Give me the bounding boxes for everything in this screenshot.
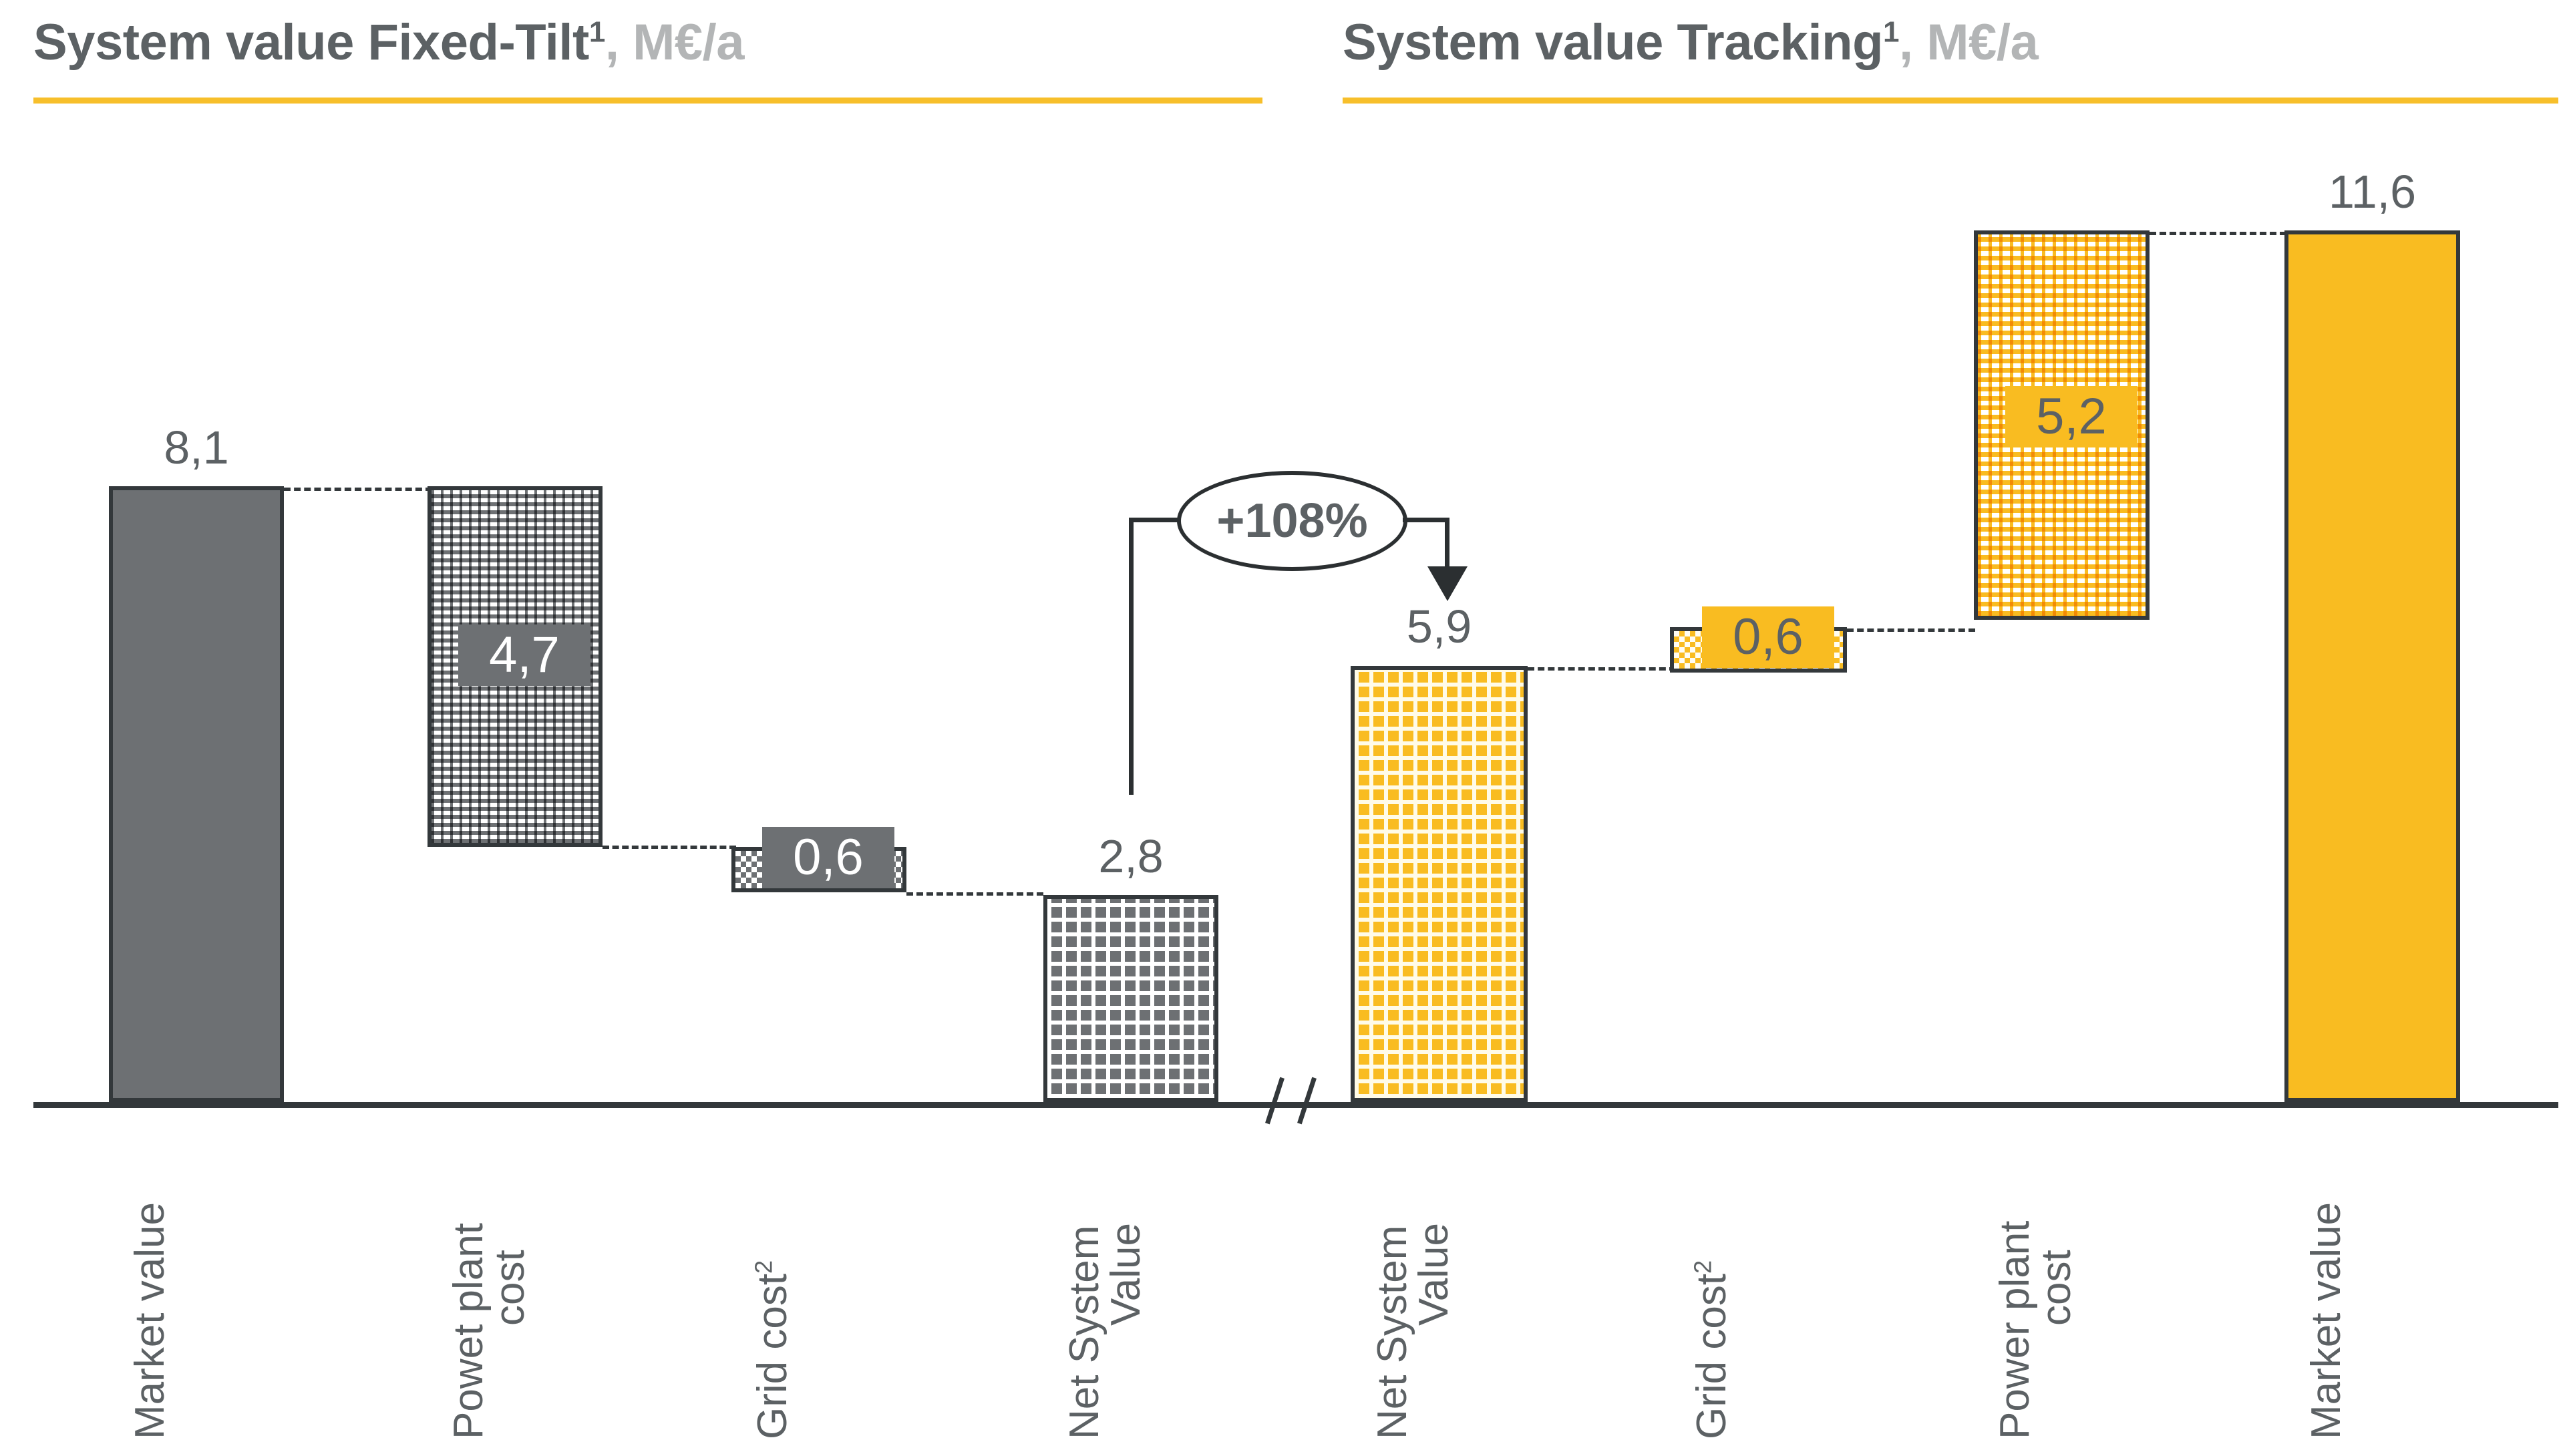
right-chart-title: System value Tracking1, M€/a — [1343, 13, 2038, 71]
value-label-left-grid-cost: 0,6 — [762, 827, 894, 888]
category-line-2: cost — [2036, 1092, 2077, 1326]
callout-leader-horizontal-right — [1403, 518, 1449, 522]
bar-right-net-system-value[interactable] — [1351, 666, 1528, 1102]
callout-arrowhead-icon — [1427, 566, 1468, 601]
left-chart-title: System value Fixed-Tilt1, M€/a — [33, 13, 744, 71]
callout-leader-horizontal-left — [1129, 518, 1182, 522]
left-title-underline — [33, 98, 1262, 104]
left-title-superscript: 1 — [589, 16, 605, 49]
category-label-net-system-value-right: Net System Value — [1372, 1092, 1455, 1439]
category-line-1: Grid cost — [1689, 1274, 1735, 1439]
category-line-1: Power plant — [1992, 1221, 2038, 1439]
bar-right-market-value[interactable] — [2284, 230, 2460, 1102]
connector-4 — [1528, 667, 1676, 671]
category-label-power-plant-cost-left: Powet plant cost — [448, 1092, 531, 1439]
value-label-right-net-system-value: 5,9 — [1351, 600, 1528, 653]
category-line-2: Value — [1105, 1092, 1147, 1326]
category-line-1: Net System — [1061, 1226, 1107, 1439]
category-superscript: 2 — [1689, 1260, 1716, 1274]
connector-6 — [2150, 232, 2286, 235]
connector-2 — [603, 846, 736, 849]
category-label-net-system-value-left: Net System Value — [1064, 1092, 1147, 1439]
category-label-grid-cost-right: Grid cost2 — [1691, 1092, 1733, 1439]
right-title-superscript: 1 — [1883, 16, 1899, 49]
chart-canvas: System value Fixed-Tilt1, M€/a System va… — [0, 0, 2565, 1456]
callout-leader-vertical-left — [1129, 518, 1134, 795]
category-line-1: Market value — [2303, 1202, 2349, 1439]
category-line-1: Grid cost — [749, 1274, 796, 1439]
value-label-left-market-value: 8,1 — [109, 421, 284, 474]
axis-break-icon — [1266, 1077, 1339, 1137]
value-label-right-power-plant-cost: 5,2 — [2005, 386, 2137, 447]
value-label-right-grid-cost: 0,6 — [1702, 606, 1834, 668]
left-title-unit: , M€/a — [605, 14, 744, 71]
value-label-left-net-system-value: 2,8 — [1043, 830, 1218, 883]
category-line-2: cost — [490, 1092, 531, 1326]
delta-callout-badge: +108% — [1177, 471, 1407, 571]
right-title-text: System value Tracking — [1343, 14, 1883, 71]
bar-left-net-system-value[interactable] — [1043, 895, 1218, 1102]
value-label-left-power-plant-cost: 4,7 — [458, 624, 590, 686]
right-title-unit: , M€/a — [1899, 14, 2038, 71]
connector-5 — [1847, 628, 1975, 632]
category-label-market-value-left: Market value — [130, 1092, 171, 1439]
right-title-underline — [1343, 98, 2558, 104]
callout-leader-vertical-right — [1445, 518, 1449, 571]
category-line-1: Powet plant — [446, 1223, 492, 1439]
category-line-1: Net System — [1369, 1226, 1415, 1439]
category-label-market-value-right: Market value — [2306, 1092, 2347, 1439]
category-label-grid-cost-left: Grid cost2 — [752, 1092, 794, 1439]
category-superscript: 2 — [749, 1260, 777, 1274]
category-line-2: Value — [1413, 1092, 1455, 1326]
connector-1 — [284, 488, 432, 491]
category-line-1: Market value — [127, 1202, 173, 1439]
delta-callout-label: +108% — [1216, 494, 1367, 548]
category-label-power-plant-cost-right: Power plant cost — [1995, 1092, 2077, 1439]
connector-3 — [906, 892, 1043, 896]
bar-left-market-value[interactable] — [109, 486, 284, 1102]
left-title-text: System value Fixed-Tilt — [33, 14, 589, 71]
value-label-right-market-value: 11,6 — [2284, 165, 2460, 218]
